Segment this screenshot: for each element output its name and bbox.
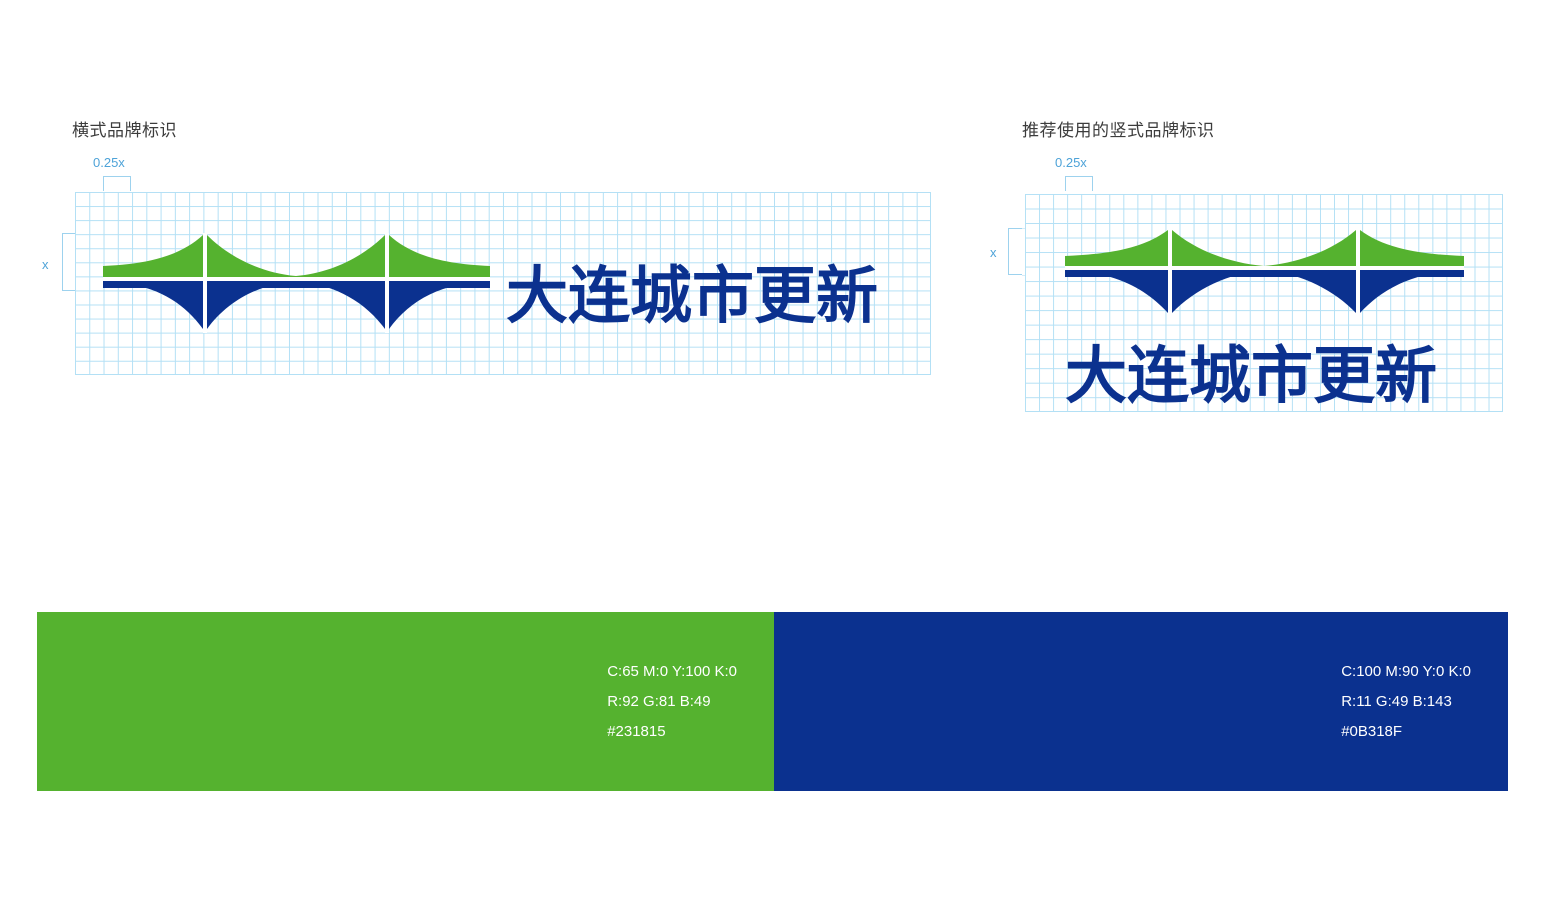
- measure-label-025x-horizontal: 0.25x: [93, 155, 125, 170]
- color-swatch-bar: C:65 M:0 Y:100 K:0 R:92 G:81 B:49 #23181…: [37, 612, 1508, 791]
- measure-label-x-horizontal: x: [42, 257, 49, 272]
- swatch-green-cmyk: C:65 M:0 Y:100 K:0: [607, 657, 737, 687]
- swatch-blue-hex: #0B318F: [1341, 717, 1471, 747]
- swatch-brand-blue: C:100 M:90 Y:0 K:0 R:11 G:49 B:143 #0B31…: [774, 612, 1508, 791]
- swatch-blue-specs: C:100 M:90 Y:0 K:0 R:11 G:49 B:143 #0B31…: [1341, 657, 1471, 747]
- bridge-logomark-vertical: [1065, 228, 1464, 316]
- section-caption-vertical: 推荐使用的竖式品牌标识: [1022, 116, 1215, 141]
- section-caption-horizontal: 横式品牌标识: [72, 116, 177, 141]
- bridge-logomark-horizontal: [103, 233, 490, 333]
- swatch-green-rgb: R:92 G:81 B:49: [607, 687, 737, 717]
- measure-bracket-025x-vertical: [1065, 176, 1093, 191]
- swatch-blue-cmyk: C:100 M:90 Y:0 K:0: [1341, 657, 1471, 687]
- measure-label-x-vertical: x: [990, 245, 997, 260]
- measure-bracket-025x-horizontal: [103, 176, 131, 191]
- wordmark-horizontal: 大连城市更新: [506, 245, 878, 335]
- wordmark-vertical: 大连城市更新: [1065, 325, 1437, 415]
- swatch-blue-rgb: R:11 G:49 B:143: [1341, 687, 1471, 717]
- swatch-green-specs: C:65 M:0 Y:100 K:0 R:92 G:81 B:49 #23181…: [607, 657, 737, 747]
- swatch-brand-green: C:65 M:0 Y:100 K:0 R:92 G:81 B:49 #23181…: [37, 612, 774, 791]
- measure-bracket-x-horizontal: [62, 233, 76, 291]
- swatch-green-hex: #231815: [607, 717, 737, 747]
- measure-bracket-x-vertical: [1008, 228, 1022, 275]
- measure-label-025x-vertical: 0.25x: [1055, 155, 1087, 170]
